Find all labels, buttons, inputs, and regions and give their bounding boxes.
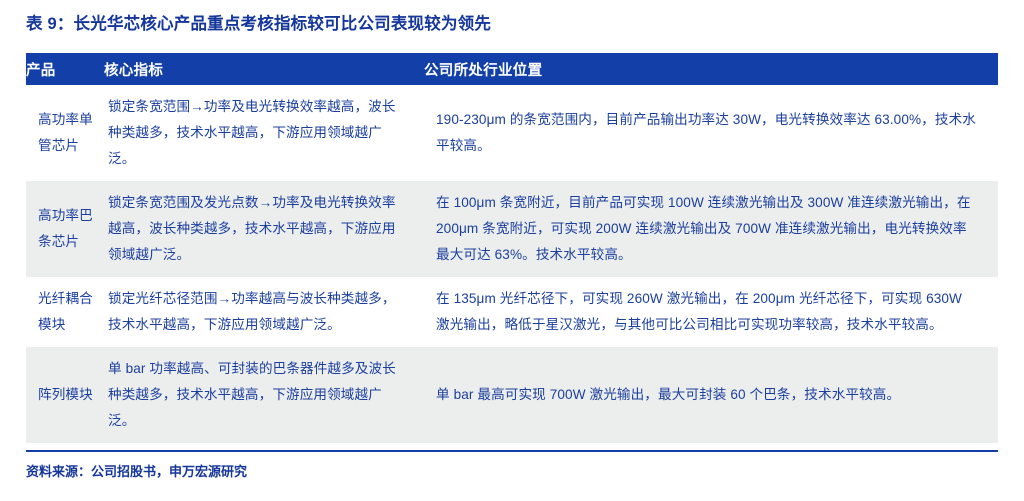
table-header-row: 产品 核心指标 公司所处行业位置 bbox=[26, 53, 998, 85]
table-body: 高功率单管芯片 锁定条宽范围→功率及电光转换效率越高，波长种类越多，技术水平越高… bbox=[26, 85, 998, 443]
table-row: 光纤耦合模块 锁定光纤芯径范围→功率越高与波长种类越多，技术水平越高，下游应用领… bbox=[26, 277, 998, 347]
column-header-product: 产品 bbox=[26, 53, 104, 85]
comparison-table: 产品 核心指标 公司所处行业位置 高功率单管芯片 锁定条宽范围→功率及电光转换效… bbox=[26, 53, 998, 443]
cell-industry-position: 在 100μm 条宽附近，目前产品可实现 100W 连续激光输出及 300W 准… bbox=[424, 181, 998, 277]
source-note: 资料来源：公司招股书，申万宏源研究 bbox=[26, 462, 247, 482]
cell-core-metric: 单 bar 功率越高、可封装的巴条器件越多及波长种类越多，技术水平越高，下游应用… bbox=[104, 347, 424, 443]
table-row: 阵列模块 单 bar 功率越高、可封装的巴条器件越多及波长种类越多，技术水平越高… bbox=[26, 347, 998, 443]
table-row: 高功率单管芯片 锁定条宽范围→功率及电光转换效率越高，波长种类越多，技术水平越高… bbox=[26, 85, 998, 181]
table-header: 产品 核心指标 公司所处行业位置 bbox=[26, 53, 998, 85]
cell-product: 高功率单管芯片 bbox=[26, 85, 104, 181]
table-page: 表 9：长光华芯核心产品重点考核指标较可比公司表现较为领先 产品 核心指标 公司… bbox=[0, 0, 1024, 501]
cell-industry-position: 190-230μm 的条宽范围内，目前产品输出功率达 30W，电光转换效率达 6… bbox=[424, 85, 998, 181]
column-header-core-metric: 核心指标 bbox=[104, 53, 424, 85]
cell-product: 光纤耦合模块 bbox=[26, 277, 104, 347]
page-title: 表 9：长光华芯核心产品重点考核指标较可比公司表现较为领先 bbox=[26, 13, 491, 35]
cell-industry-position: 单 bar 最高可实现 700W 激光输出，最大可封装 60 个巴条，技术水平较… bbox=[424, 347, 998, 443]
cell-industry-position: 在 135μm 光纤芯径下，可实现 260W 激光输出，在 200μm 光纤芯径… bbox=[424, 277, 998, 347]
cell-product: 高功率巴条芯片 bbox=[26, 181, 104, 277]
cell-product: 阵列模块 bbox=[26, 347, 104, 443]
cell-core-metric: 锁定光纤芯径范围→功率越高与波长种类越多，技术水平越高，下游应用领域越广泛。 bbox=[104, 277, 424, 347]
cell-core-metric: 锁定条宽范围及发光点数→功率及电光转换效率越高，波长种类越多，技术水平越高，下游… bbox=[104, 181, 424, 277]
table-bottom-divider bbox=[26, 450, 998, 452]
column-header-industry-position: 公司所处行业位置 bbox=[424, 53, 998, 85]
cell-core-metric: 锁定条宽范围→功率及电光转换效率越高，波长种类越多，技术水平越高，下游应用领域越… bbox=[104, 85, 424, 181]
table-row: 高功率巴条芯片 锁定条宽范围及发光点数→功率及电光转换效率越高，波长种类越多，技… bbox=[26, 181, 998, 277]
